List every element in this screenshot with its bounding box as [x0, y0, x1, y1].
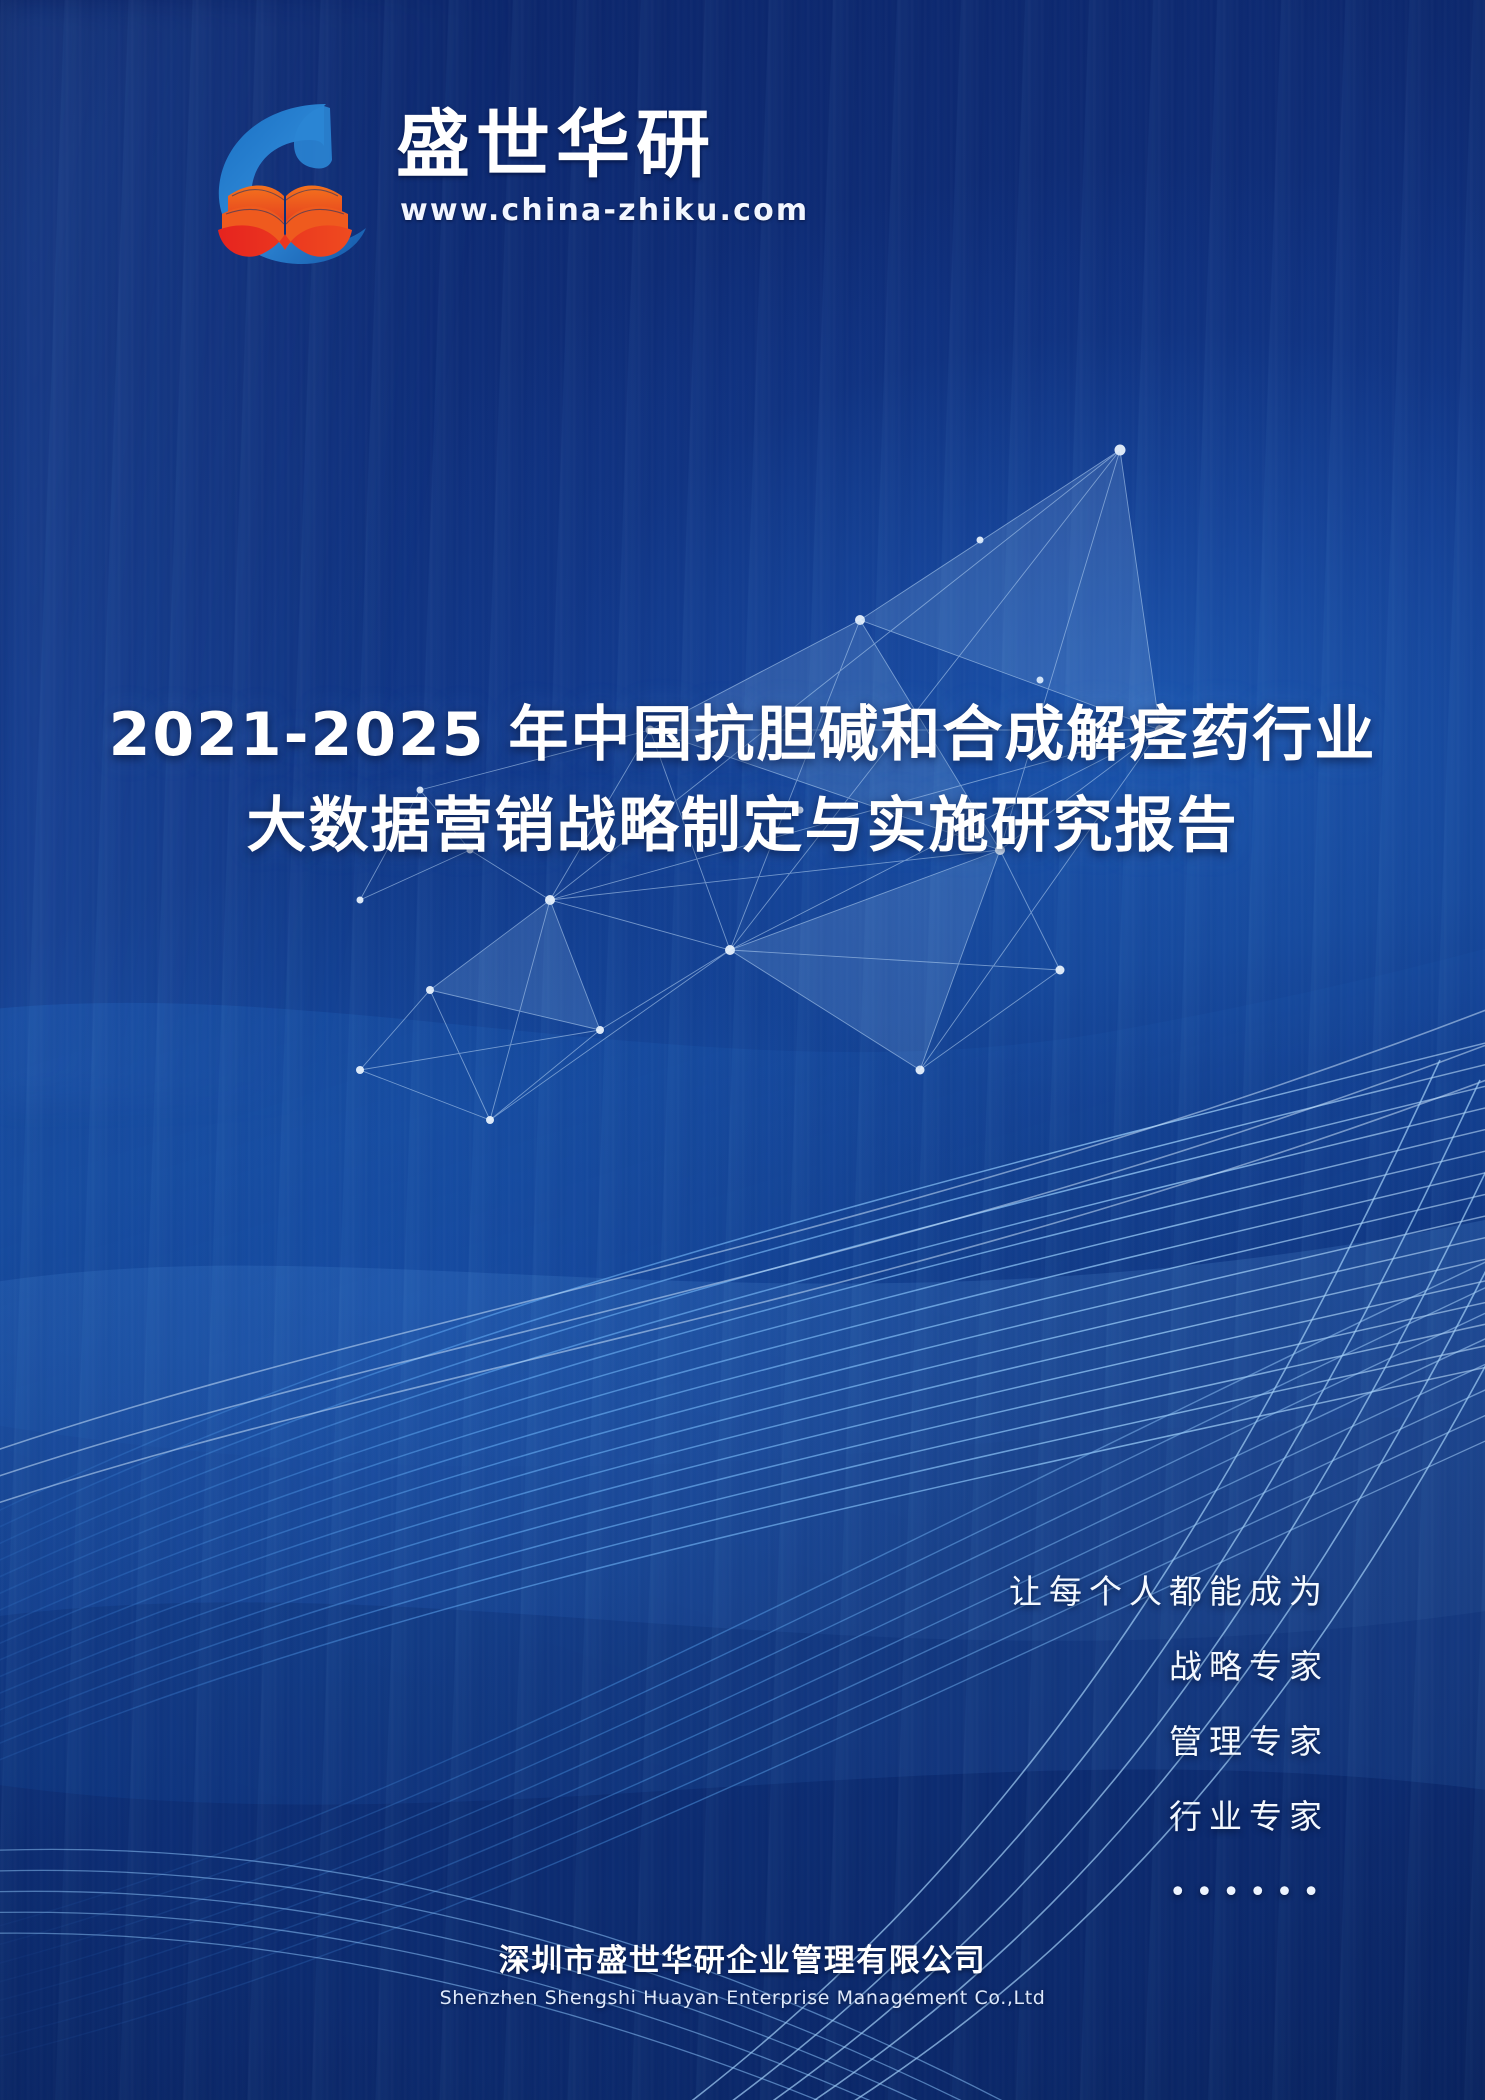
title-line-2: 大数据营销战略制定与实施研究报告 — [0, 781, 1485, 872]
slogan-line-2: 战略专家 — [1009, 1650, 1329, 1683]
slogan-line-4: 行业专家 — [1009, 1800, 1329, 1833]
slogan-line-1: 让每个人都能成为 — [1009, 1575, 1329, 1608]
slogan-line-3: 管理专家 — [1009, 1725, 1329, 1758]
title-line-1: 2021-2025 年中国抗胆碱和合成解痉药行业 — [0, 690, 1485, 781]
footer-block: 深圳市盛世华研企业管理有限公司 Shenzhen Shengshi Huayan… — [0, 1935, 1485, 2009]
brand-logo: 盛世华研 www.china-zhiku.com — [198, 96, 898, 276]
brand-name: 盛世华研 — [396, 108, 896, 183]
company-name-cn: 深圳市盛世华研企业管理有限公司 — [0, 1935, 1485, 1980]
company-name-en: Shenzhen Shengshi Huayan Enterprise Mana… — [0, 1987, 1485, 2009]
brand-text: 盛世华研 www.china-zhiku.com — [396, 108, 896, 228]
brand-website: www.china-zhiku.com — [400, 193, 896, 228]
open-book-swoosh-logo-icon — [198, 96, 373, 271]
slogan-ellipsis: •••••• — [1009, 1875, 1329, 1910]
report-cover-page: 盛世华研 www.china-zhiku.com 2021-2025 年中国抗胆… — [0, 0, 1485, 2100]
report-title: 2021-2025 年中国抗胆碱和合成解痉药行业 大数据营销战略制定与实施研究报… — [0, 690, 1485, 872]
slogan-block: 让每个人都能成为 战略专家 管理专家 行业专家 •••••• — [1009, 1575, 1329, 1910]
